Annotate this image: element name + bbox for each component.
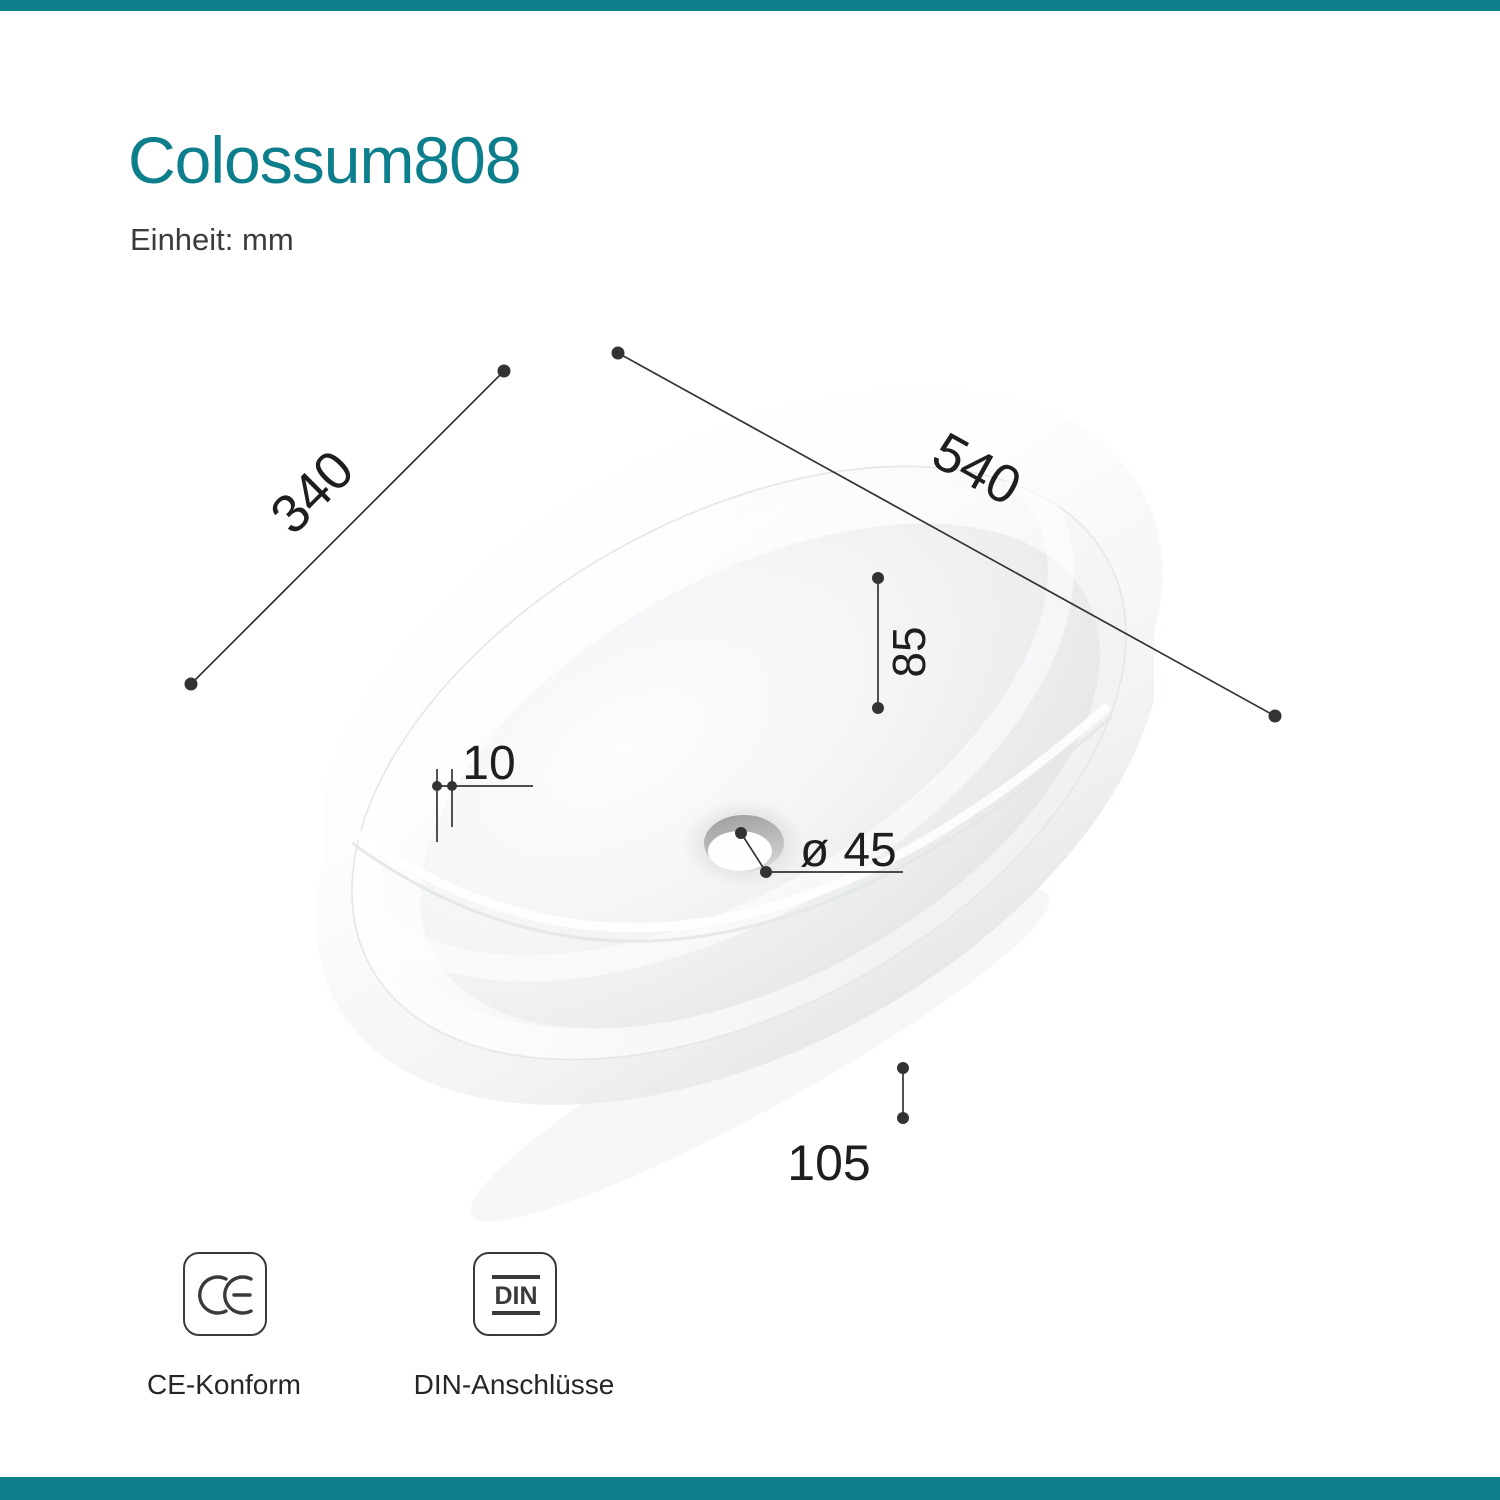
certification-din-label: DIN-Anschlüsse bbox=[388, 1369, 640, 1401]
diameter-symbol-icon: ø bbox=[800, 824, 829, 877]
svg-text:DIN: DIN bbox=[494, 1282, 537, 1310]
din-mark-icon: DIN bbox=[473, 1252, 557, 1336]
certification-ce-label: CE-Konform bbox=[128, 1369, 320, 1401]
dimension-label-105: 105 bbox=[787, 1135, 870, 1191]
dimension-label-85: 85 bbox=[883, 626, 935, 677]
washbasin-illustration bbox=[250, 320, 1226, 1260]
dimension-label-10: 10 bbox=[462, 737, 515, 790]
dimension-105 bbox=[897, 1062, 909, 1124]
certification-ce: CE-Konform bbox=[130, 1252, 320, 1401]
product-spec-sheet: Colossum808 Einheit: mm bbox=[0, 0, 1500, 1500]
ce-mark-icon bbox=[183, 1252, 267, 1336]
drain-hole bbox=[682, 799, 806, 887]
certification-din: DIN DIN-Anschlüsse bbox=[390, 1252, 640, 1401]
dimension-label-45: 45 bbox=[843, 824, 896, 877]
dimension-label-340: 340 bbox=[259, 439, 365, 545]
dimension-label-diameter-45: ø45 bbox=[800, 824, 897, 877]
